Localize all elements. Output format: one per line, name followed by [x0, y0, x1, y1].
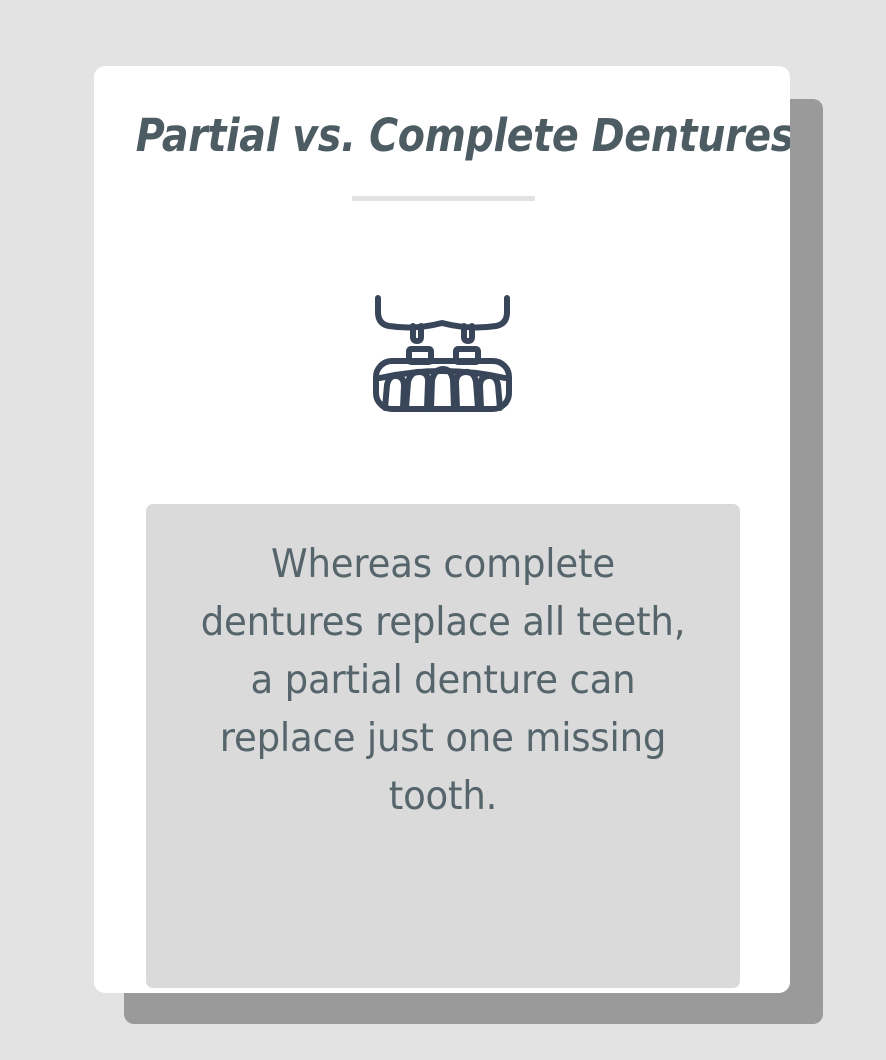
slide-stage: Partial vs. Complete Dentures: [0, 0, 886, 1060]
body-text-line: a partial denture can: [161, 652, 725, 710]
content-card: Partial vs. Complete Dentures: [94, 66, 790, 993]
page-title: Partial vs. Complete Dentures: [136, 108, 748, 164]
body-text-line: tooth.: [161, 768, 725, 826]
body-text: Whereas complete dentures replace all te…: [161, 504, 725, 826]
title-divider: [352, 196, 535, 201]
body-text-panel: Whereas complete dentures replace all te…: [146, 504, 740, 988]
body-text-line: dentures replace all teeth,: [161, 594, 725, 652]
body-text-line: replace just one missing: [161, 710, 725, 768]
body-text-line: Whereas complete: [161, 536, 725, 594]
partial-denture-icon: [370, 290, 515, 415]
